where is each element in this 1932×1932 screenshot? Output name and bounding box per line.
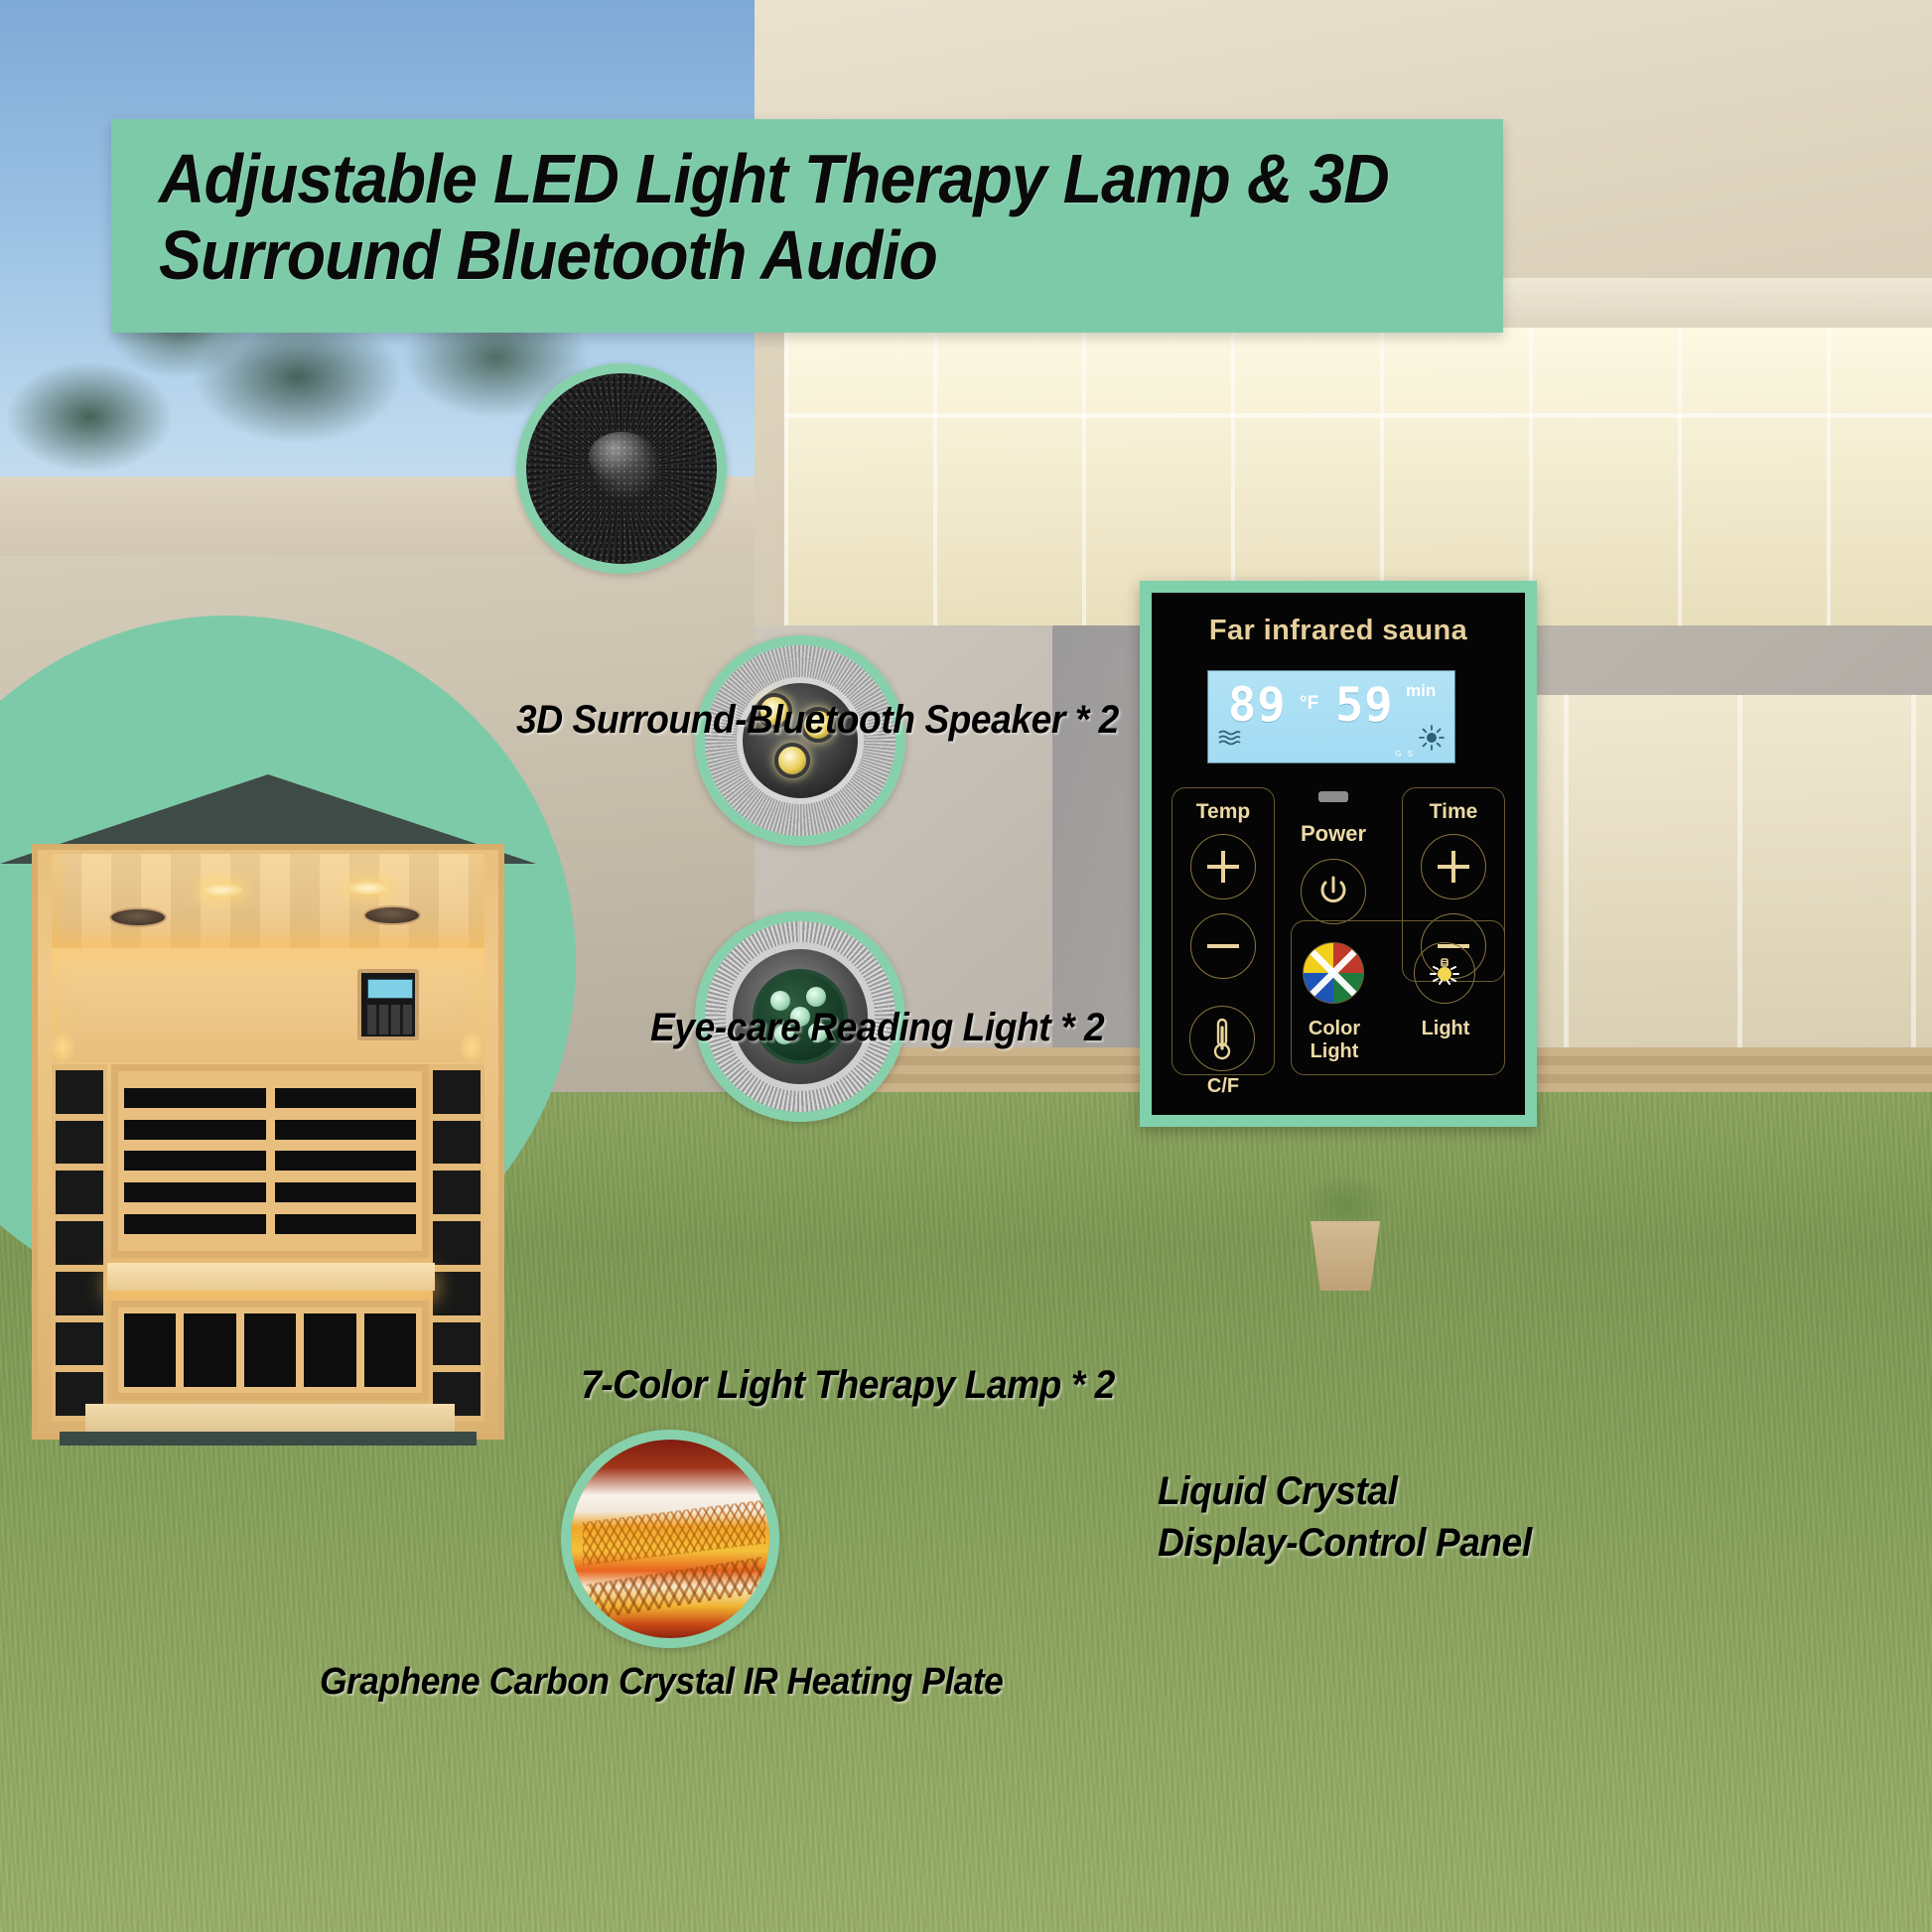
power-icon bbox=[1314, 873, 1352, 910]
in-cabin-control-panel[interactable] bbox=[357, 969, 419, 1040]
lcd-control-panel[interactable]: Far infrared sauna 89 °F 59 min G bbox=[1140, 581, 1537, 1127]
heater-cell bbox=[433, 1171, 481, 1214]
temp-increase-button[interactable] bbox=[1190, 834, 1256, 899]
heater-cell bbox=[433, 1322, 481, 1366]
ceiling-speaker-left bbox=[109, 907, 167, 927]
lcd-micro-indicators: G S bbox=[1395, 750, 1415, 759]
cabin-ceiling bbox=[52, 854, 484, 953]
heater-cell bbox=[56, 1070, 103, 1114]
light-button[interactable] bbox=[1414, 942, 1475, 1004]
cabin-back-wall bbox=[52, 948, 484, 1062]
heater-cell bbox=[56, 1322, 103, 1366]
panel-brand-title: Far infrared sauna bbox=[1152, 615, 1525, 647]
color-lamp-label: 7-Color Light Therapy Lamp * 2 bbox=[581, 1362, 1115, 1409]
heater-cell bbox=[364, 1313, 416, 1387]
title-line-1: Adjustable LED Light Therapy Lamp & 3D bbox=[159, 141, 1359, 217]
bluetooth-speaker-icon bbox=[516, 363, 727, 574]
temp-decrease-button[interactable] bbox=[1190, 913, 1256, 979]
ceiling-speaker-right bbox=[363, 905, 421, 925]
heater-row bbox=[124, 1151, 416, 1171]
power-led-indicator bbox=[1318, 791, 1348, 802]
lcd-time-value: 59 bbox=[1335, 678, 1394, 733]
lcd-temperature-value: 89 bbox=[1228, 678, 1287, 733]
speaker-dome bbox=[589, 432, 654, 482]
power-button[interactable] bbox=[1301, 859, 1366, 924]
light-bulb-icon bbox=[1425, 953, 1464, 993]
heater-cell bbox=[56, 1171, 103, 1214]
panel-caption-line-2: Display-Control Panel bbox=[1158, 1517, 1532, 1569]
lcd-time-unit: min bbox=[1406, 681, 1436, 701]
led-glow-right bbox=[459, 1031, 484, 1064]
in-cabin-lcd bbox=[367, 979, 413, 999]
panel-caption-line-1: Liquid Crystal bbox=[1158, 1465, 1532, 1517]
title-banner: Adjustable LED Light Therapy Lamp & 3D S… bbox=[111, 119, 1503, 333]
lcd-temperature-unit: °F bbox=[1300, 693, 1318, 715]
color-wheel-icon[interactable] bbox=[1303, 942, 1364, 1004]
light-on-icon bbox=[1419, 725, 1445, 751]
heater-cell bbox=[56, 1221, 103, 1265]
heater-row bbox=[124, 1182, 416, 1202]
color-light-label: Color Light bbox=[1285, 1018, 1384, 1063]
heater-row bbox=[124, 1088, 416, 1108]
lamp-led bbox=[806, 987, 826, 1007]
title-line-2: Surround Bluetooth Audio bbox=[159, 217, 1359, 294]
in-cabin-keypad[interactable] bbox=[367, 1005, 413, 1035]
led-chip bbox=[774, 743, 810, 778]
light-label: Light bbox=[1404, 1018, 1487, 1040]
heater-cell bbox=[433, 1272, 481, 1315]
speaker-label: 3D Surround-Bluetooth Speaker * 2 bbox=[516, 697, 1119, 744]
celsius-fahrenheit-button[interactable] bbox=[1189, 1006, 1255, 1071]
time-increase-button[interactable] bbox=[1421, 834, 1486, 899]
reading-light-label: Eye-care Reading Light * 2 bbox=[650, 1005, 1104, 1051]
heater-cell bbox=[433, 1070, 481, 1114]
cf-label: C/F bbox=[1172, 1075, 1275, 1098]
heater-cell bbox=[124, 1313, 176, 1387]
heater-cell bbox=[433, 1121, 481, 1165]
temp-group-label: Temp bbox=[1173, 800, 1274, 824]
panel-face: Far infrared sauna 89 °F 59 min G bbox=[1152, 593, 1525, 1115]
heat-wave-icon bbox=[1217, 729, 1241, 747]
thermometer-icon bbox=[1205, 1016, 1239, 1061]
graphene-heating-plate-icon bbox=[561, 1430, 779, 1648]
cabin-bench bbox=[107, 1263, 435, 1291]
side-heater-left bbox=[52, 1064, 107, 1422]
ceiling-reading-light-right bbox=[347, 882, 389, 895]
heater-cell bbox=[433, 1221, 481, 1265]
leg-heater-panel bbox=[111, 1301, 429, 1400]
heater-cell bbox=[56, 1272, 103, 1315]
heater-row bbox=[124, 1120, 416, 1140]
graphene-label: Graphene Carbon Crystal IR Heating Plate bbox=[320, 1660, 1003, 1705]
ceiling-reading-light-left bbox=[201, 884, 242, 897]
control-panel-caption: Liquid Crystal Display-Control Panel bbox=[1158, 1465, 1532, 1569]
heater-cell bbox=[184, 1313, 235, 1387]
power-label: Power bbox=[1271, 821, 1396, 847]
time-group-label: Time bbox=[1403, 800, 1504, 824]
heater-cell bbox=[244, 1313, 296, 1387]
back-heater-panel bbox=[111, 1064, 429, 1258]
far-infrared-sauna-cabin bbox=[0, 774, 536, 1459]
cabin-base bbox=[60, 1432, 477, 1446]
heater-row bbox=[124, 1214, 416, 1234]
potted-plant-pot bbox=[1311, 1221, 1380, 1291]
side-heater-right bbox=[429, 1064, 484, 1422]
heater-cell bbox=[56, 1121, 103, 1165]
led-glow-left bbox=[50, 1031, 75, 1064]
lcd-screen: 89 °F 59 min G S bbox=[1207, 670, 1455, 763]
heater-cell bbox=[304, 1313, 355, 1387]
